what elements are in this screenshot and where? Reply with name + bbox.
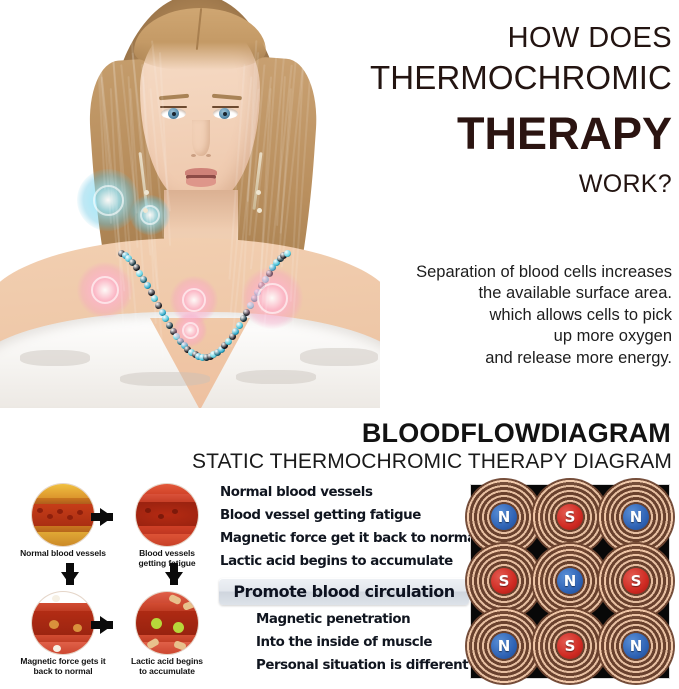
vessel-illustration-lactic <box>136 592 198 654</box>
diagram-step-3-caption: Magnetic force gets it back to normal <box>16 657 110 676</box>
magnet-cell-2-1: S <box>471 549 537 613</box>
magnet-cell-2-3: S <box>603 549 669 613</box>
magnet-pole-label: N <box>623 504 649 530</box>
necklace-bead <box>144 282 151 289</box>
diagram-step-3-caption-line2: back to normal <box>16 667 110 677</box>
nostril-right <box>206 154 211 157</box>
magnet-cell-3-1: N <box>471 614 537 678</box>
hero-description: Separation of blood cells increases the … <box>362 262 672 369</box>
benefit-item-6: Into the inside of muscle <box>256 636 432 649</box>
benefit-item-3: Magnetic force get it back to normal <box>220 532 480 545</box>
necklace-bead <box>284 250 291 257</box>
benefit-item-7: Personal situation is different <box>256 659 468 672</box>
headline-line-3: THERAPY <box>360 102 672 166</box>
diagram-step-4-caption: Lactic acid begins to accumulate <box>120 657 214 676</box>
neck-shadow <box>164 190 238 230</box>
dress-fold <box>20 350 90 366</box>
promote-circulation-highlight: Promote blood circulation <box>219 578 469 605</box>
vessel-illustration-normal <box>32 484 94 546</box>
dress-fold <box>120 372 210 386</box>
earring-bead <box>144 190 149 195</box>
magnet-cell-1-1: N <box>471 485 537 549</box>
infographic-page: HOW DOES THERMOCHROMIC THERAPY WORK? Sep… <box>0 0 679 689</box>
diagram-step-1-caption: Normal blood vessels <box>16 549 110 559</box>
magnet-pole-label: S <box>557 633 583 659</box>
diagram-step-2-caption: Blood vessels getting fatigue <box>120 549 214 568</box>
blood-flow-title: BLOODFLOWDIAGRAM <box>0 418 671 449</box>
magnet-cell-3-2: S <box>537 614 603 678</box>
hero-headline: HOW DOES THERMOCHROMIC THERAPY WORK? <box>360 22 672 203</box>
blood-flow-subtitle: STATIC THERMOCHROMIC THERAPY DIAGRAM <box>0 450 672 474</box>
description-line-4: up more oxygen <box>362 326 672 347</box>
arrow-down-right-icon <box>165 572 183 585</box>
pupil-left <box>172 112 176 116</box>
headline-line-1: HOW DOES <box>360 22 672 55</box>
eyelash-left <box>160 106 187 108</box>
magnet-pole-grid: NSNSNSNSN <box>470 484 670 679</box>
model-photo <box>0 0 380 408</box>
benefit-item-4: Lactic acid begins to accumulate <box>220 555 453 568</box>
magnet-pole-label: N <box>491 504 517 530</box>
earring-bead <box>256 190 261 195</box>
necklace-bead <box>236 322 243 329</box>
headline-line-4: WORK? <box>360 166 672 204</box>
arrow-right-top-icon <box>100 508 113 526</box>
magnet-pole-label: S <box>557 504 583 530</box>
magnet-cell-1-2: S <box>537 485 603 549</box>
diagram-step-2-caption-line2: getting fatigue <box>120 559 214 569</box>
hero-section: HOW DOES THERMOCHROMIC THERAPY WORK? Sep… <box>0 0 679 408</box>
promote-circulation-label: Promote blood circulation <box>219 578 469 605</box>
magnet-pole-label: N <box>491 633 517 659</box>
blood-flow-section: BLOODFLOWDIAGRAM STATIC THERMOCHROMIC TH… <box>0 408 679 689</box>
vessel-illustration-restored <box>32 592 94 654</box>
diagram-step-2: Blood vessels getting fatigue <box>120 484 214 568</box>
description-line-5: and release more energy. <box>362 348 672 369</box>
nostril-left <box>191 154 196 157</box>
arrow-right-bottom-icon <box>100 616 113 634</box>
arrow-down-left-icon <box>61 572 79 585</box>
benefit-item-2: Blood vessel getting fatigue <box>220 509 421 522</box>
energy-glow-ring-2 <box>182 288 206 312</box>
diagram-step-3: Magnetic force gets it back to normal <box>16 592 110 676</box>
description-line-3: which allows cells to pick <box>362 305 672 326</box>
eyelash-right <box>212 106 239 108</box>
description-line-1: Separation of blood cells increases <box>362 262 672 283</box>
description-line-2: the available surface area. <box>362 283 672 304</box>
magnet-cell-1-3: N <box>603 485 669 549</box>
headline-line-2: THERMOCHROMIC <box>360 55 672 102</box>
earring-bead <box>257 208 262 213</box>
dress-fold <box>236 370 316 384</box>
four-step-diagram: Normal blood vessels Blood vessels getti… <box>14 484 216 684</box>
nose <box>192 120 210 156</box>
energy-glow-ring-6 <box>182 322 199 339</box>
earring-bead <box>143 208 148 213</box>
magnet-cell-3-3: N <box>603 614 669 678</box>
diagram-step-4: Lactic acid begins to accumulate <box>120 592 214 676</box>
diagram-step-4-caption-line2: to accumulate <box>120 667 214 677</box>
energy-glow-ring-1 <box>91 276 119 304</box>
diagram-step-1: Normal blood vessels <box>16 484 110 559</box>
magnet-pole-label: N <box>623 633 649 659</box>
magnet-cell-2-2: N <box>537 549 603 613</box>
vessel-illustration-fatigue <box>136 484 198 546</box>
benefit-item-1: Normal blood vessels <box>220 486 372 499</box>
benefit-item-5: Magnetic penetration <box>256 613 410 626</box>
pupil-right <box>223 112 227 116</box>
lower-lip <box>186 178 216 187</box>
